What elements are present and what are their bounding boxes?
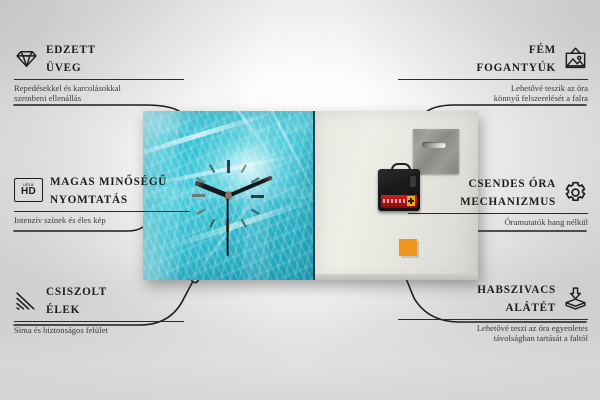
callout-title: CSISZOLT ÉLEK xyxy=(46,282,107,318)
callout-divider xyxy=(14,79,184,80)
infographic-canvas: EDZETT ÜVEG Repedésekkel és karcolásokka… xyxy=(0,0,600,400)
callout-habszivacs-alatet: HABSZIVACS ALÁTÉT Lehetővé teszi az óra … xyxy=(398,280,588,344)
foam-spacer-pad xyxy=(399,239,417,256)
callout-fem-fogantyuk: FÉM FOGANTYÚK Lehetővé teszik az óra kön… xyxy=(398,40,588,104)
callout-divider xyxy=(14,321,184,322)
clock-second-hand xyxy=(227,196,229,256)
callout-edzett-uveg: EDZETT ÜVEG Repedésekkel és karcolásokka… xyxy=(14,40,184,104)
callout-header: FÉM FOGANTYÚK xyxy=(398,40,588,76)
metal-hanger-plate xyxy=(413,129,459,174)
callout-magas-minosegu-nyomtatas: ultra HD MAGAS MINŐSÉGŰ NYOMTATÁS Intenz… xyxy=(14,172,190,225)
callout-title: FÉM FOGANTYÚK xyxy=(477,40,556,76)
callout-divider xyxy=(398,319,588,320)
callout-divider xyxy=(14,211,190,212)
polished-edges-icon xyxy=(14,288,39,313)
diamond-icon xyxy=(14,46,39,71)
callout-title: HABSZIVACS ALÁTÉT xyxy=(477,280,556,316)
picture-frame-hanger-icon xyxy=(563,46,588,71)
hanger-slot xyxy=(422,142,446,148)
callout-header: CSENDES ÓRA MECHANIZMUS xyxy=(408,174,588,210)
callout-header: EDZETT ÜVEG xyxy=(14,40,184,76)
callout-csiszolt-elek: CSISZOLT ÉLEK Sima és biztonságos felüle… xyxy=(14,282,184,335)
callout-divider xyxy=(398,79,588,80)
gear-icon xyxy=(563,180,588,205)
callout-title: EDZETT ÜVEG xyxy=(46,40,96,76)
clock-hand-cap xyxy=(225,192,232,199)
callout-header: ultra HD MAGAS MINŐSÉGŰ NYOMTATÁS xyxy=(14,172,190,208)
callout-title: CSENDES ÓRA MECHANIZMUS xyxy=(460,174,556,210)
callout-title: MAGAS MINŐSÉGŰ NYOMTATÁS xyxy=(50,172,167,208)
battery-label xyxy=(383,199,408,203)
callout-header: HABSZIVACS ALÁTÉT xyxy=(398,280,588,316)
ultra-hd-icon: ultra HD xyxy=(14,178,43,202)
callout-csendes-ora-mechanizmus: CSENDES ÓRA MECHANIZMUS Óramutatók hang … xyxy=(408,174,588,227)
mechanism-hanging-loop xyxy=(391,163,411,174)
callout-header: CSISZOLT ÉLEK xyxy=(14,282,184,318)
foam-pad-arrow-icon xyxy=(563,286,588,311)
callout-divider xyxy=(408,213,588,214)
